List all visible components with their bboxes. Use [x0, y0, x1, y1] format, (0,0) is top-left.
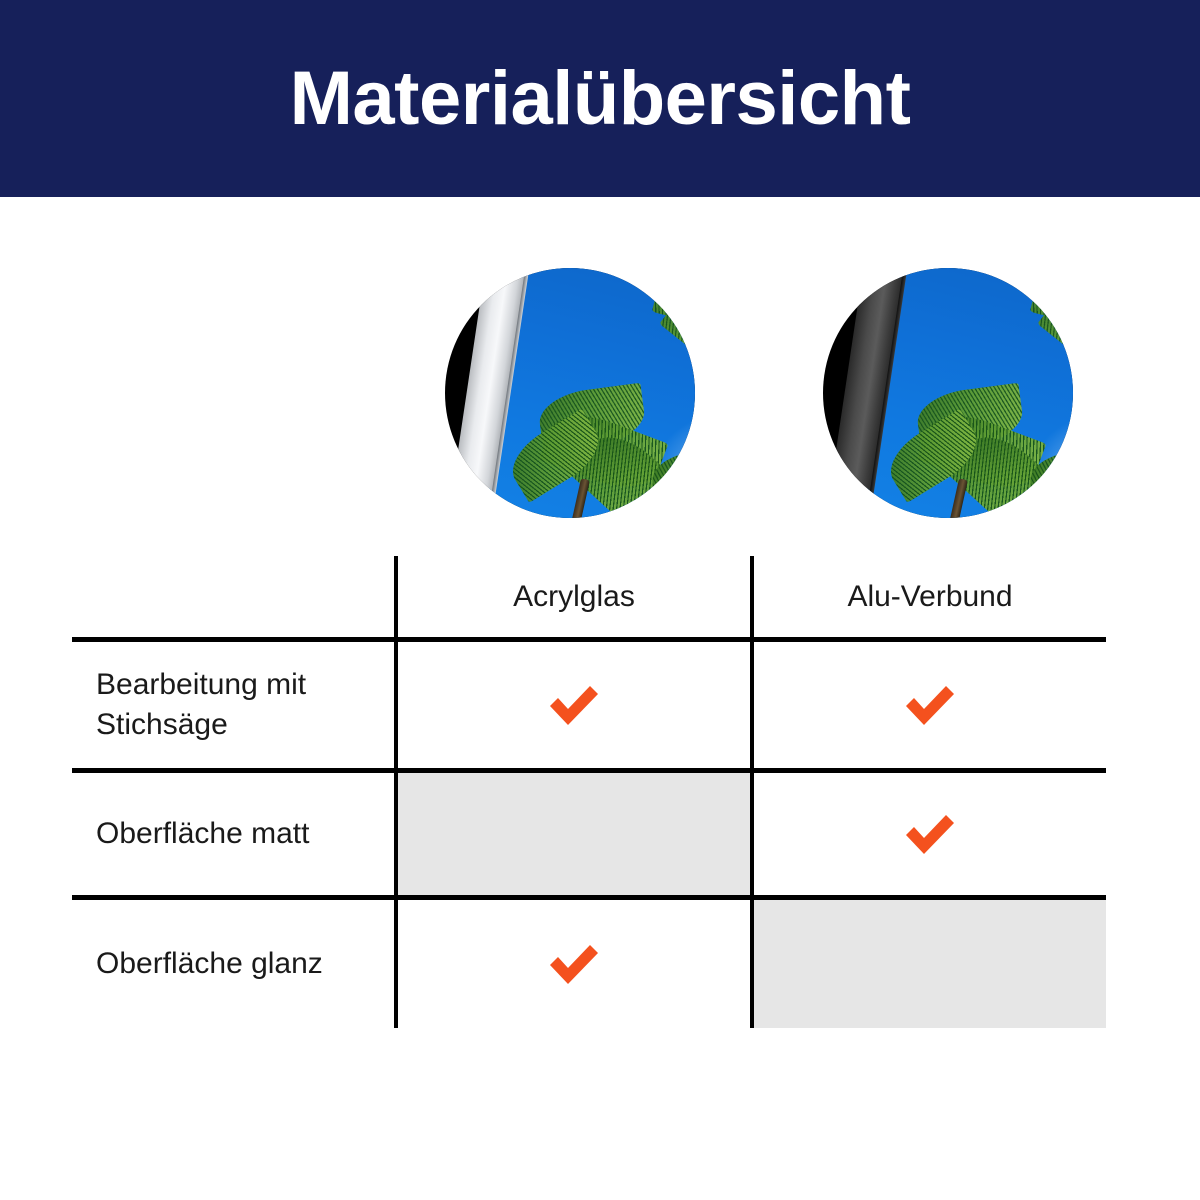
acrylglas-sample-inner [445, 268, 695, 518]
acrylglas-sample-image [445, 268, 695, 518]
row-label-bearbeitung: Bearbeitung mit Stichsäge [72, 665, 306, 744]
row-label-line-1: Oberfläche matt [96, 817, 309, 850]
row-label-oberflaeche-glanz: Oberfläche glanz [72, 944, 323, 984]
column-header-label-acrylglas: Acrylglas [513, 580, 635, 613]
header-cell-blank [72, 556, 394, 637]
table-header-row: Acrylglas Alu-Verbund [72, 556, 1106, 637]
cell-oberflaeche-glanz-alu-verbund [750, 900, 1106, 1028]
cell-oberflaeche-matt-alu-verbund [750, 773, 1106, 895]
row-label-cell-oberflaeche-matt: Oberfläche matt [72, 773, 394, 895]
row-label-oberflaeche-matt: Oberfläche matt [72, 814, 309, 854]
header-banner: Materialübersicht [0, 0, 1200, 197]
row-label-cell-bearbeitung: Bearbeitung mit Stichsäge [72, 642, 394, 768]
cell-oberflaeche-matt-acrylglas [394, 773, 750, 895]
column-header-label-alu-verbund: Alu-Verbund [847, 580, 1012, 613]
material-comparison-table: Acrylglas Alu-Verbund Bearbeitung mit St… [72, 556, 1106, 1028]
alu-verbund-sample-inner [823, 268, 1073, 518]
table-row: Bearbeitung mit Stichsäge [72, 637, 1106, 768]
header-cell-alu-verbund: Alu-Verbund [750, 556, 1106, 637]
table-body: Bearbeitung mit Stichsäge [72, 637, 1106, 1028]
check-mark-icon [546, 682, 602, 728]
table-row: Oberfläche glanz [72, 895, 1106, 1028]
table-row: Oberfläche matt [72, 768, 1106, 895]
cell-oberflaeche-glanz-acrylglas [394, 900, 750, 1028]
row-label-line-1: Bearbeitung mit [96, 668, 306, 701]
alu-verbund-sample-image [823, 268, 1073, 518]
table-header: Acrylglas Alu-Verbund [72, 556, 1106, 637]
material-sample-row [0, 268, 1200, 518]
check-mark-icon [546, 941, 602, 987]
row-label-line-2: Stichsäge [96, 708, 228, 741]
row-label-line-1: Oberfläche glanz [96, 947, 323, 980]
check-mark-icon [902, 811, 958, 857]
material-overview-page: Materialübersicht [0, 0, 1200, 1200]
check-mark-icon [902, 682, 958, 728]
row-label-cell-oberflaeche-glanz: Oberfläche glanz [72, 900, 394, 1028]
page-title: Materialübersicht [290, 61, 911, 137]
cell-bearbeitung-alu-verbund [750, 642, 1106, 768]
cell-bearbeitung-acrylglas [394, 642, 750, 768]
header-cell-acrylglas: Acrylglas [394, 556, 750, 637]
